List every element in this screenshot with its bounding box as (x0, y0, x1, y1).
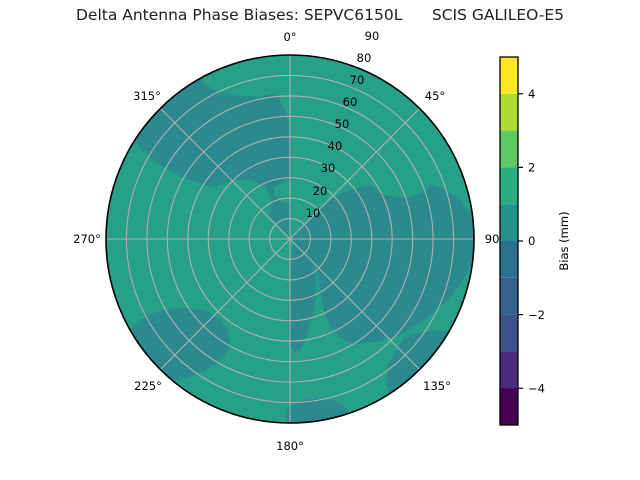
colorbar[interactable]: 4 2 0 −2 −4 Bias (mm) (0, 0, 640, 480)
colorbar-swatch-neg4-to-neg3 (500, 351, 518, 388)
colorbar-tick-label-2: 2 (528, 161, 535, 175)
colorbar-swatch-neg2-to-neg1 (500, 278, 518, 315)
colorbar-swatch-3-to-4 (500, 94, 518, 131)
colorbar-tick-label-4: 4 (528, 87, 535, 101)
colorbar-tick-label-0: 0 (528, 234, 535, 248)
colorbar-axis-title: Bias (mm) (557, 211, 571, 270)
colorbar-swatch-2-to-3 (500, 131, 518, 168)
figure-canvas: Delta Antenna Phase Biases: SEPVC6150L S… (0, 0, 640, 480)
colorbar-swatch-neg3-to-neg2 (500, 315, 518, 352)
colorbar-tick-label-neg4: −4 (528, 381, 545, 395)
colorbar-swatch-0-to-1 (500, 204, 518, 241)
colorbar-tick-label-neg2: −2 (528, 308, 545, 322)
colorbar-tick-labels: 4 2 0 −2 −4 (528, 87, 545, 395)
colorbar-swatch-1-to-2 (500, 167, 518, 204)
colorbar-swatches (500, 57, 518, 425)
colorbar-swatch-bottom (500, 388, 518, 425)
colorbar-swatch-4-to-5 (500, 57, 518, 94)
colorbar-ticks (518, 94, 523, 388)
colorbar-swatch-neg1-to-0 (500, 241, 518, 278)
